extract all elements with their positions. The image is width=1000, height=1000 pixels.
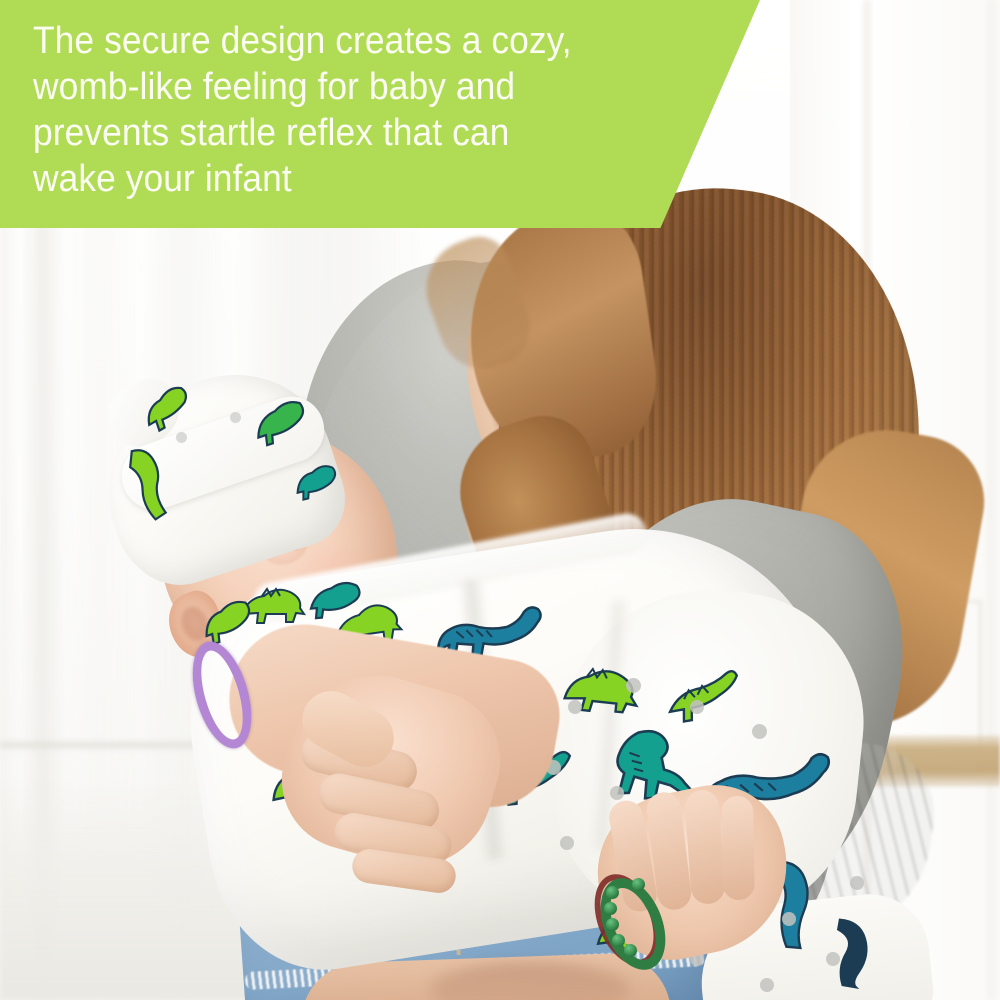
- swaddle-dot: [568, 700, 582, 714]
- swaddle-dot: [850, 876, 864, 890]
- swaddle-dot: [782, 912, 796, 926]
- swaddle-dot: [826, 952, 840, 966]
- bracelet-bead: [612, 934, 625, 947]
- swaddle-dot: [560, 836, 574, 850]
- swaddle-dot: [626, 678, 641, 693]
- swaddle-dot: [752, 724, 767, 739]
- product-image-canvas: The secure design creates a cozy, womb-l…: [0, 0, 1000, 1000]
- bracelet-bead: [606, 886, 619, 899]
- right-hand-finger-4: [721, 796, 755, 901]
- marketing-callout-banner: The secure design creates a cozy, womb-l…: [0, 0, 760, 228]
- hat-dot: [176, 432, 187, 443]
- bracelet-bead: [604, 902, 617, 915]
- bracelet-bead: [624, 944, 637, 957]
- bracelet-bead: [606, 918, 619, 931]
- swaddle-dot: [760, 978, 774, 992]
- swaddle-dot: [690, 700, 704, 714]
- swaddle-dot: [610, 786, 624, 800]
- dino-motif-teal-2: [304, 575, 368, 621]
- background-panel-edge-2: [987, 0, 995, 1000]
- bracelet-bead: [632, 878, 645, 891]
- hat-dot: [230, 412, 241, 423]
- banner-headline: The secure design creates a cozy, womb-l…: [33, 18, 675, 202]
